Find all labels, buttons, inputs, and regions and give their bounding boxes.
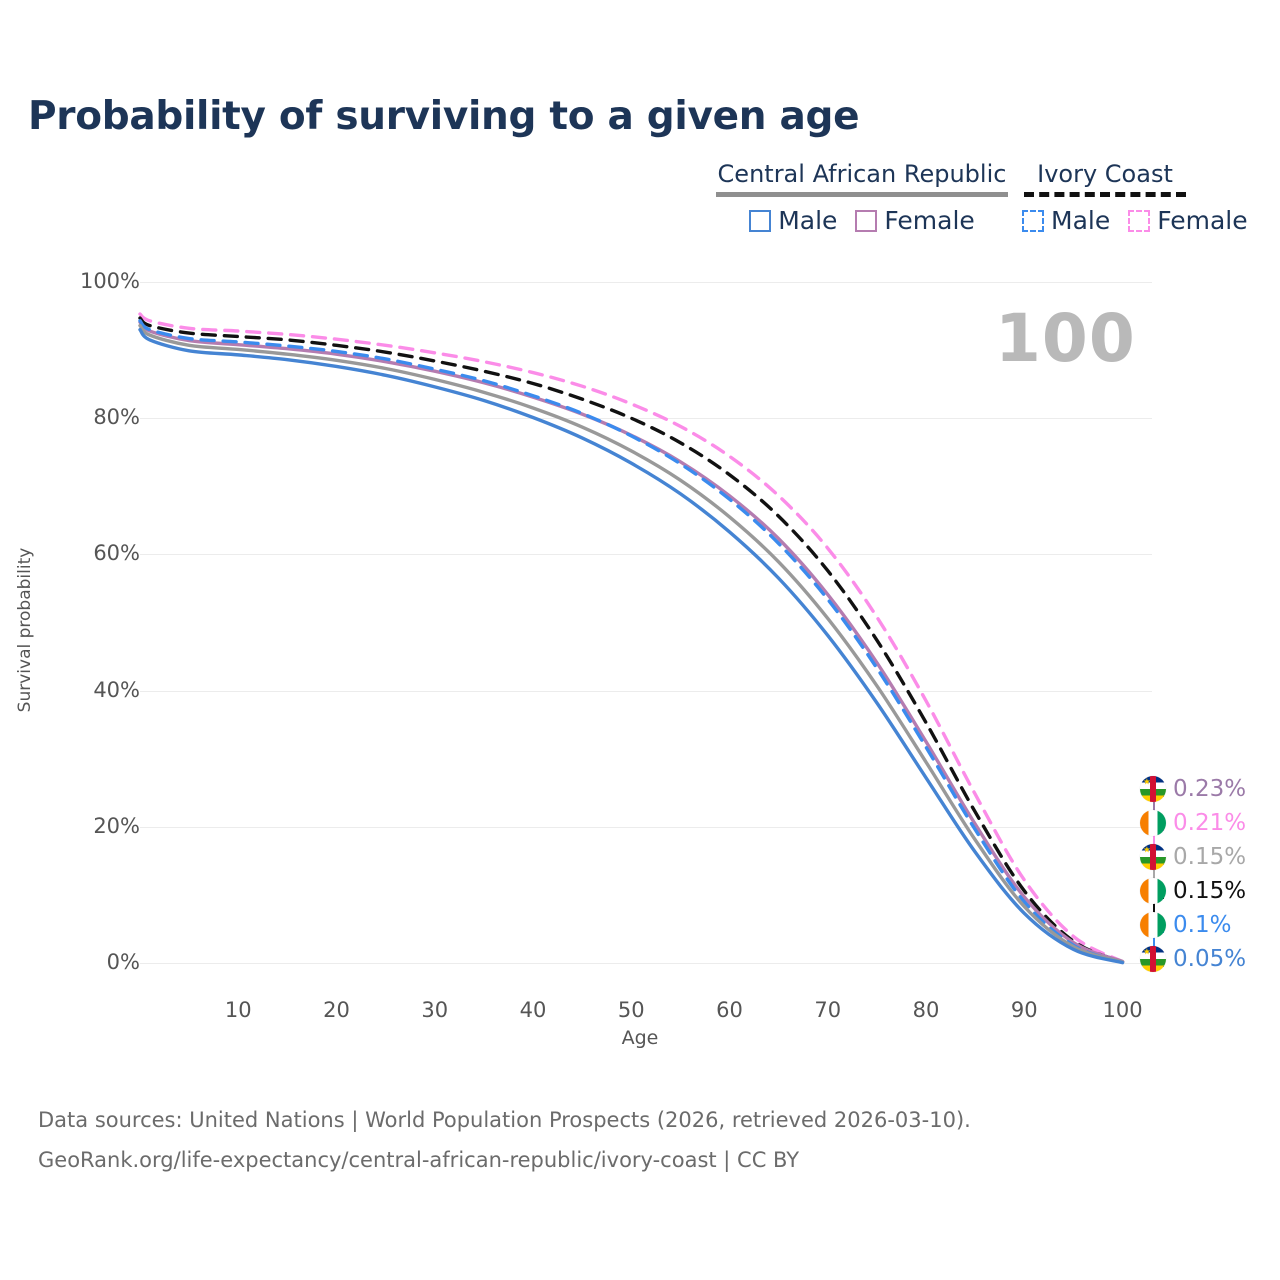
x-tick-label: 60 <box>690 998 770 1022</box>
age-watermark: 100 <box>995 300 1136 377</box>
series-line <box>140 330 1123 963</box>
series-line <box>140 314 1123 962</box>
endpoint-value: 0.23% <box>1173 776 1246 802</box>
endpoint-label-row[interactable]: 0.15% <box>1140 877 1246 905</box>
endpoint-value: 0.05% <box>1173 946 1246 972</box>
y-tick-label: 60% <box>20 541 140 565</box>
flag-central-african-republic-icon <box>1140 776 1166 802</box>
x-tick-label: 50 <box>591 998 671 1022</box>
x-tick-label: 80 <box>886 998 966 1022</box>
y-tick-label: 0% <box>20 950 140 974</box>
chart-series-lines <box>0 0 1280 1280</box>
series-line <box>140 318 1123 962</box>
x-tick-label: 40 <box>493 998 573 1022</box>
y-axis-title: Survival probability <box>15 400 35 860</box>
x-tick-label: 100 <box>1083 998 1163 1022</box>
endpoint-label-row[interactable]: 0.05% <box>1140 945 1246 973</box>
x-tick-label: 90 <box>984 998 1064 1022</box>
gridline <box>140 691 1152 692</box>
flag-central-african-republic-icon <box>1140 844 1166 870</box>
endpoint-label-row[interactable]: 0.23% <box>1140 775 1246 803</box>
endpoint-label-row[interactable]: 0.21% <box>1140 809 1246 837</box>
x-tick-label: 20 <box>297 998 377 1022</box>
y-tick-label: 100% <box>20 269 140 293</box>
series-line <box>140 321 1123 963</box>
y-tick-label: 20% <box>20 814 140 838</box>
chart-plot-area: 0%20%40%60%80%100% 102030405060708090100… <box>0 0 1280 1280</box>
endpoint-label-row[interactable]: 0.15% <box>1140 843 1246 871</box>
footer-attribution: GeoRank.org/life-expectancy/central-afri… <box>38 1148 799 1172</box>
x-axis-title: Age <box>540 1027 740 1049</box>
y-tick-label: 40% <box>20 678 140 702</box>
gridline <box>140 554 1152 555</box>
x-tick-label: 10 <box>198 998 278 1022</box>
endpoint-value: 0.1% <box>1173 912 1231 938</box>
endpoint-label-row[interactable]: 0.1% <box>1140 911 1231 939</box>
flag-ivory-coast-icon <box>1140 912 1166 938</box>
flag-ivory-coast-icon <box>1140 878 1166 904</box>
endpoint-value: 0.21% <box>1173 810 1246 836</box>
gridline <box>140 282 1152 283</box>
footer-data-sources: Data sources: United Nations | World Pop… <box>38 1108 971 1132</box>
endpoint-value: 0.15% <box>1173 878 1246 904</box>
gridline <box>140 418 1152 419</box>
endpoint-leader-lines <box>0 0 1280 1280</box>
series-line <box>140 326 1123 962</box>
gridline <box>140 827 1152 828</box>
flag-central-african-republic-icon <box>1140 946 1166 972</box>
endpoint-labels: 0.23%0.21%0.15%0.15%0.1%0.05% <box>1140 775 1280 975</box>
x-tick-label: 70 <box>788 998 868 1022</box>
gridline <box>140 963 1152 964</box>
flag-ivory-coast-icon <box>1140 810 1166 836</box>
endpoint-value: 0.15% <box>1173 844 1246 870</box>
y-tick-label: 80% <box>20 405 140 429</box>
x-tick-label: 30 <box>395 998 475 1022</box>
